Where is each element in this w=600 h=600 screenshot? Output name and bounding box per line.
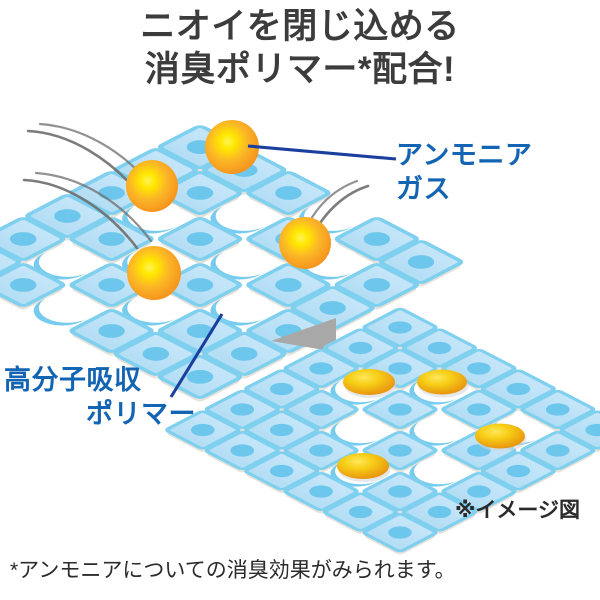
ammonia-sphere	[279, 217, 331, 269]
ammonia-sphere	[127, 246, 181, 300]
callout-ammonia-line2: ガス	[396, 174, 451, 204]
footnote-text: *アンモニアについての消臭効果がみられます。	[10, 554, 456, 584]
infographic-canvas: ニオイを閉じ込める 消臭ポリマー*配合!	[0, 0, 600, 600]
callout-absorbent-polymer: 高分子吸収 ポリマー	[4, 364, 196, 432]
ammonia-sphere	[126, 160, 178, 212]
callout-polymer-line2: ポリマー	[4, 398, 196, 432]
image-disclaimer-note: ※イメージ図	[455, 494, 580, 524]
callout-polymer-line1: 高分子吸収	[4, 365, 142, 395]
callout-ammonia-gas: アンモニア ガス	[396, 139, 532, 207]
callout-ammonia-line1: アンモニア	[396, 140, 532, 170]
leader-line-ammonia	[248, 146, 396, 159]
